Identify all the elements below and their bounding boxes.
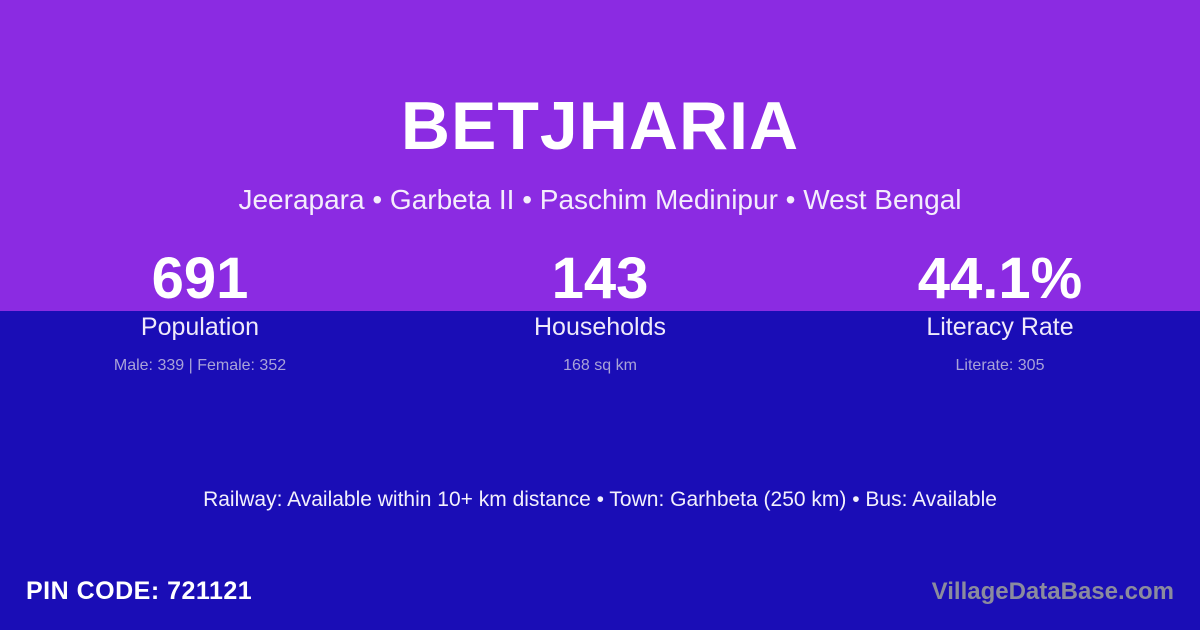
stats-row: 691 Population Male: 339 | Female: 352 1… (0, 246, 1200, 386)
stat-sublabel: 168 sq km (400, 355, 800, 377)
pin-code: PIN CODE: 721121 (26, 575, 252, 607)
page-title: BETJHARIA (0, 86, 1200, 166)
stat-sublabel: Male: 339 | Female: 352 (0, 355, 400, 377)
stat-label: Population (0, 311, 400, 343)
site-branding: VillageDataBase.com (932, 577, 1174, 607)
stat-label: Literacy Rate (800, 311, 1200, 343)
stat-label: Households (400, 311, 800, 343)
stat-literacy-rate: 44.1% Literacy Rate Literate: 305 (800, 246, 1200, 386)
stat-population: 691 Population Male: 339 | Female: 352 (0, 246, 400, 386)
location-breadcrumb: Jeerapara • Garbeta II • Paschim Medinip… (0, 182, 1200, 218)
infrastructure-summary: Railway: Available within 10+ km distanc… (0, 486, 1200, 514)
stat-value: 143 (400, 246, 800, 311)
village-info-card: BETJHARIA Jeerapara • Garbeta II • Pasch… (0, 0, 1200, 630)
stat-sublabel: Literate: 305 (800, 355, 1200, 377)
stat-value: 691 (0, 246, 400, 311)
stat-households: 143 Households 168 sq km (400, 246, 800, 386)
stat-value: 44.1% (800, 246, 1200, 311)
